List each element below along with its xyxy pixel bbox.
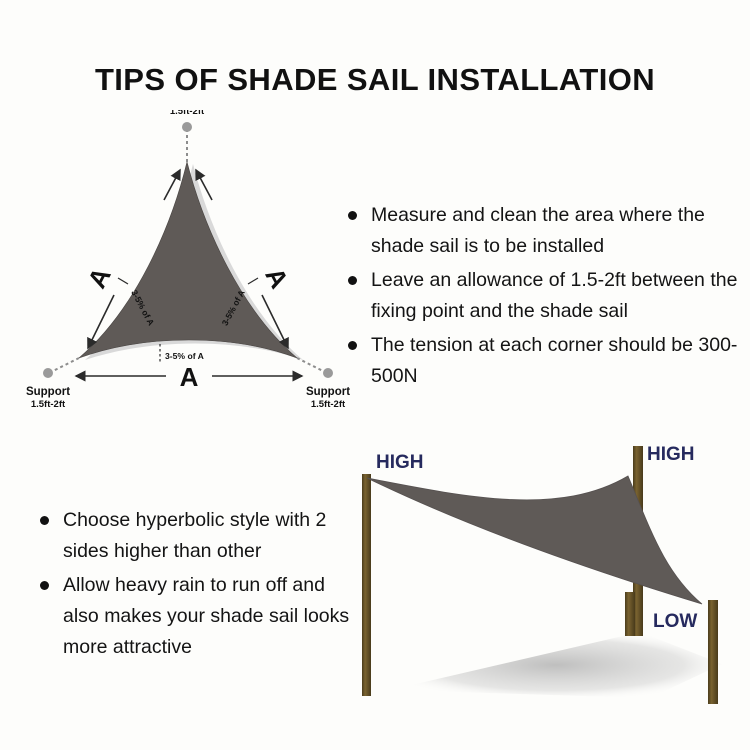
bullet-dot-icon: [40, 516, 49, 525]
tether-line-bottom-left: [51, 358, 79, 372]
corner-label-low: LOW: [653, 611, 697, 632]
tick-left: [118, 278, 128, 284]
support-label-bottom-left: Support: [26, 386, 70, 398]
list-item: Measure and clean the area where the sha…: [348, 200, 740, 262]
bullet-dot-icon: [348, 341, 357, 350]
support-detail-bottom-left: 1.5ft-2ft: [31, 399, 66, 410]
list-item-text: Measure and clean the area where the sha…: [371, 204, 705, 257]
corner-label-right-high: HIGH: [647, 444, 695, 465]
installation-tips-list-top: Measure and clean the area where the sha…: [348, 200, 740, 395]
list-item: Allow heavy rain to run off and also mak…: [40, 570, 350, 663]
post-right-low: [708, 600, 718, 704]
support-detail-top: 1.5ft-2ft: [170, 110, 205, 117]
list-item-text: The tension at each corner should be 300…: [371, 334, 737, 387]
list-item-text: Allow heavy rain to run off and also mak…: [63, 574, 349, 658]
side-label-bottom-A: A: [180, 362, 199, 392]
list-item-text: Leave an allowance of 1.5-2ft between th…: [371, 269, 737, 322]
side-note-bottom-pct: 3-5% of A: [165, 351, 204, 361]
ground-shadow: [390, 632, 722, 698]
list-item: Leave an allowance of 1.5-2ft between th…: [348, 265, 740, 327]
tick-right: [248, 278, 258, 284]
list-item: Choose hyperbolic style with 2 sides hig…: [40, 505, 350, 567]
support-label-bottom-right: Support: [306, 386, 350, 398]
side-label-right-A: A: [259, 262, 294, 293]
sail-shape: [79, 162, 297, 358]
post-middle-front: [625, 592, 635, 636]
page-title: TIPS OF SHADE SAIL INSTALLATION: [0, 62, 750, 98]
corner-label-left-high: HIGH: [376, 452, 424, 473]
support-point-bottom-left: [43, 368, 53, 378]
sail-shape-hyperbolic: [367, 476, 702, 604]
triangle-shade-sail-plan-diagram: A 3-5% of A A 3-5% of A A 3-5% of A Supp…: [14, 110, 364, 410]
shade-sail-infographic: TIPS OF SHADE SAIL INSTALLATION A: [0, 0, 750, 750]
list-item-text: Choose hyperbolic style with 2 sides hig…: [63, 509, 326, 562]
support-detail-bottom-right: 1.5ft-2ft: [311, 399, 346, 410]
support-point-bottom-right: [323, 368, 333, 378]
post-left: [362, 474, 371, 696]
bullet-dot-icon: [40, 581, 49, 590]
side-label-left-A: A: [81, 262, 116, 293]
installation-tips-list-bottom: Choose hyperbolic style with 2 sides hig…: [40, 505, 350, 666]
hyperbolic-shade-sail-perspective-diagram: HIGH HIGH LOW: [350, 432, 750, 732]
bullet-dot-icon: [348, 276, 357, 285]
list-item: The tension at each corner should be 300…: [348, 330, 740, 392]
tether-line-bottom-right: [297, 358, 325, 372]
support-point-top: [182, 122, 192, 132]
bullet-dot-icon: [348, 211, 357, 220]
